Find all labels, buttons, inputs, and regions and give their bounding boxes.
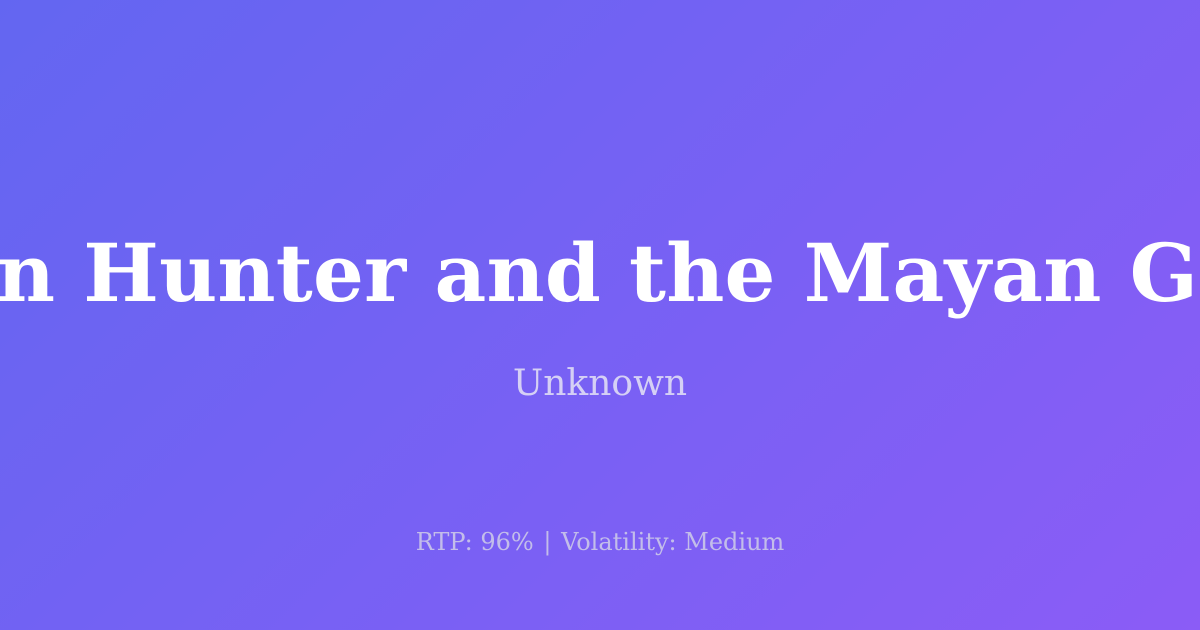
rtp-label: RTP:	[416, 528, 473, 556]
game-provider: Unknown	[0, 362, 1200, 405]
volatility-value: Medium	[684, 528, 784, 556]
volatility-label: Volatility:	[561, 528, 677, 556]
game-share-card: John Hunter and the Mayan Gods Unknown R…	[0, 0, 1200, 630]
game-meta: RTP: 96% | Volatility: Medium	[0, 528, 1200, 557]
rtp-value: 96%	[480, 528, 533, 556]
page-title: John Hunter and the Mayan Gods	[0, 231, 1200, 315]
meta-separator: |	[541, 528, 553, 556]
